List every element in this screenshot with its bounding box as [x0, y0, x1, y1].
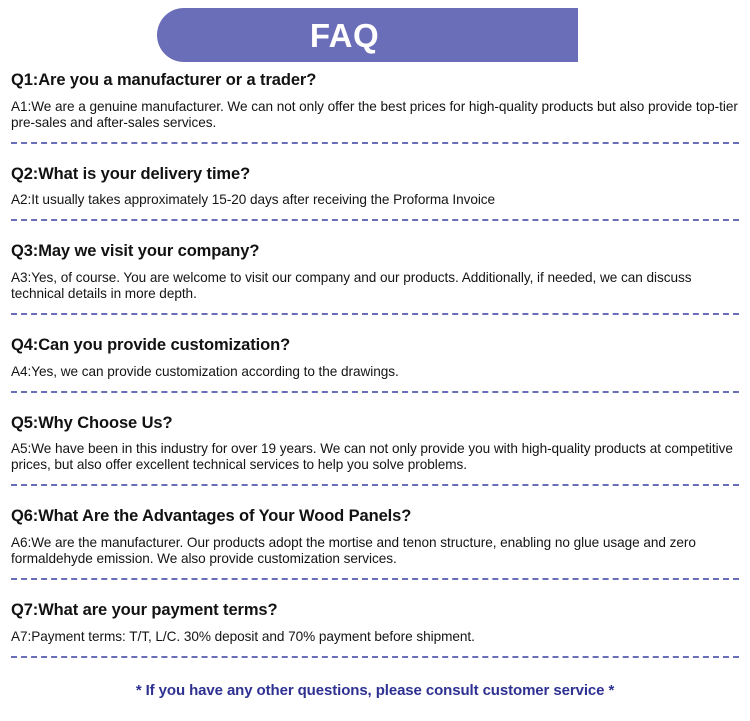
faq-item-5: Q5:Why Choose Us? A5:We have been in thi… — [11, 413, 739, 507]
faq-item-4: Q4:Can you provide customization? A4:Yes… — [11, 335, 739, 413]
faq-answer: A3:Yes, of course. You are welcome to vi… — [11, 270, 739, 302]
spacer — [11, 393, 739, 413]
faq-answer: A7:Payment terms: T/T, L/C. 30% deposit … — [11, 629, 739, 645]
faq-list: Q1:Are you a manufacturer or a trader? A… — [0, 70, 750, 658]
faq-banner: FAQ — [157, 8, 578, 62]
faq-question: Q1:Are you a manufacturer or a trader? — [11, 70, 739, 91]
faq-item-1: Q1:Are you a manufacturer or a trader? A… — [11, 70, 739, 164]
faq-answer: A1:We are a genuine manufacturer. We can… — [11, 99, 739, 131]
spacer — [11, 580, 739, 600]
faq-item-3: Q3:May we visit your company? A3:Yes, of… — [11, 241, 739, 335]
faq-page: FAQ Q1:Are you a manufacturer or a trade… — [0, 0, 750, 721]
faq-question: Q5:Why Choose Us? — [11, 413, 739, 434]
faq-item-6: Q6:What Are the Advantages of Your Wood … — [11, 506, 739, 600]
spacer — [11, 221, 739, 241]
faq-question: Q7:What are your payment terms? — [11, 600, 739, 621]
faq-answer: A6:We are the manufacturer. Our products… — [11, 535, 739, 567]
customer-service-note: * If you have any other questions, pleas… — [0, 682, 750, 699]
page-title: FAQ — [157, 8, 578, 62]
header-banner-area: FAQ — [0, 8, 750, 62]
spacer — [11, 486, 739, 506]
faq-question: Q3:May we visit your company? — [11, 241, 739, 262]
faq-item-2: Q2:What is your delivery time? A2:It usu… — [11, 164, 739, 242]
spacer — [11, 315, 739, 335]
spacer — [11, 144, 739, 164]
faq-question: Q6:What Are the Advantages of Your Wood … — [11, 506, 739, 527]
faq-question: Q2:What is your delivery time? — [11, 164, 739, 185]
faq-item-7: Q7:What are your payment terms? A7:Payme… — [11, 600, 739, 658]
faq-answer: A5:We have been in this industry for ove… — [11, 441, 739, 473]
faq-divider — [11, 656, 739, 658]
faq-question: Q4:Can you provide customization? — [11, 335, 739, 356]
faq-answer: A2:It usually takes approximately 15-20 … — [11, 192, 739, 208]
faq-answer: A4:Yes, we can provide customization acc… — [11, 364, 739, 380]
